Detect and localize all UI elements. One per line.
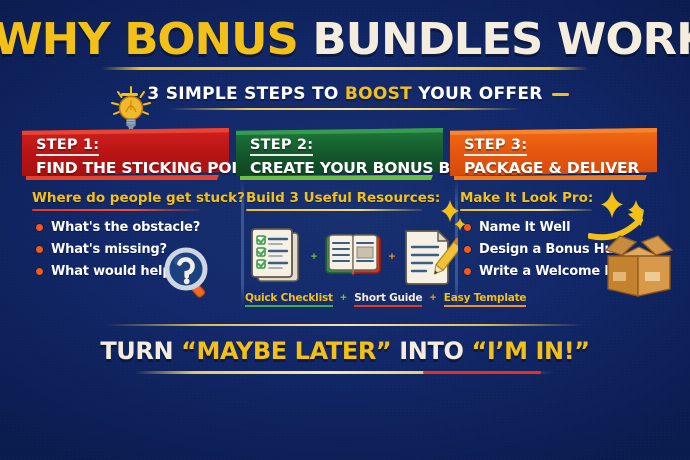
footer-top-rule	[106, 324, 584, 326]
resource-captions: Quick Checklist + Short Guide + Easy Tem…	[245, 288, 459, 306]
step-2-subhead: Build 3 Useful Resources:	[246, 190, 450, 206]
checklist-icon	[248, 227, 306, 287]
sparkle-icon	[436, 198, 466, 236]
footer-quote-2: “I’M IN!”	[471, 337, 589, 365]
column-divider-1	[241, 180, 244, 308]
footer-red-underline	[423, 371, 541, 374]
document-pencil-icon	[400, 227, 458, 287]
resource-icons-row: + +	[248, 226, 458, 288]
step-2-title: CREATE YOUR BONUS BUNDLE	[250, 159, 437, 178]
open-book-icon	[322, 228, 384, 286]
step-1-subhead: Where do people get stuck?	[32, 190, 236, 206]
footer-block: TURN “MAYBE LATER” INTO “I’M IN!”	[0, 324, 690, 374]
step-3-number: STEP 3:	[464, 137, 527, 156]
footer-bottom-rule	[135, 371, 555, 374]
subtitle-before: 3 SIMPLE STEPS TO	[147, 84, 338, 104]
resource-label-3: Easy Template	[444, 292, 527, 307]
step-2-number: STEP 2:	[250, 137, 313, 156]
magnifier-question-icon	[152, 243, 214, 305]
subtitle-underline	[169, 108, 521, 110]
step-1-banner: STEP 1: FIND THE STICKING POINT	[22, 128, 229, 176]
infographic-poster: WHY BONUS BUNDLES WORK 3 SIMPLE STEPS TO…	[0, 0, 690, 460]
open-box-icon	[600, 228, 678, 300]
plus-separator-1: +	[311, 251, 317, 263]
step-1-subhead-underline	[32, 209, 200, 211]
dash-right-icon	[552, 93, 569, 96]
title-underline	[102, 67, 588, 70]
subtitle: 3 SIMPLE STEPS TO BOOST YOUR OFFER	[147, 84, 542, 104]
step-2-banner: STEP 2: CREATE YOUR BONUS BUNDLE	[236, 128, 443, 176]
list-item: What's the obstacle?	[36, 220, 236, 235]
step-3-title: PACKAGE & DELIVER	[464, 159, 651, 178]
step-2-subhead-underline	[246, 209, 422, 211]
footer-tagline: TURN “MAYBE LATER” INTO “I’M IN!”	[0, 338, 690, 364]
lightbulb-icon	[109, 86, 153, 134]
plus-separator-2: +	[389, 251, 395, 263]
footer-word-2: INTO	[399, 337, 463, 365]
page-title: WHY BONUS BUNDLES WORK	[0, 18, 690, 62]
resource-label-1: Quick Checklist	[245, 292, 333, 307]
title-part-1: WHY BONUS	[0, 14, 298, 65]
subtitle-after: YOUR OFFER	[418, 84, 542, 104]
footer-quote-1: “MAYBE LATER”	[181, 337, 391, 365]
resource-label-2: Short Guide	[354, 292, 422, 307]
title-part-2: BUNDLES WORK	[312, 14, 690, 65]
footer-word-1: TURN	[100, 337, 173, 365]
step-3-banner: STEP 3: PACKAGE & DELIVER	[450, 128, 657, 176]
step-3-subhead-underline	[460, 209, 592, 211]
sparkle-stars-icon	[598, 190, 654, 230]
subtitle-block: 3 SIMPLE STEPS TO BOOST YOUR OFFER	[0, 84, 690, 110]
subtitle-highlight: BOOST	[345, 84, 412, 104]
step-1-title: FIND THE STICKING POINT	[36, 159, 223, 178]
title-block: WHY BONUS BUNDLES WORK	[0, 18, 690, 70]
caption-plus-1: +	[340, 292, 346, 304]
caption-plus-2: +	[430, 292, 436, 304]
step-1-number: STEP 1:	[36, 137, 99, 156]
